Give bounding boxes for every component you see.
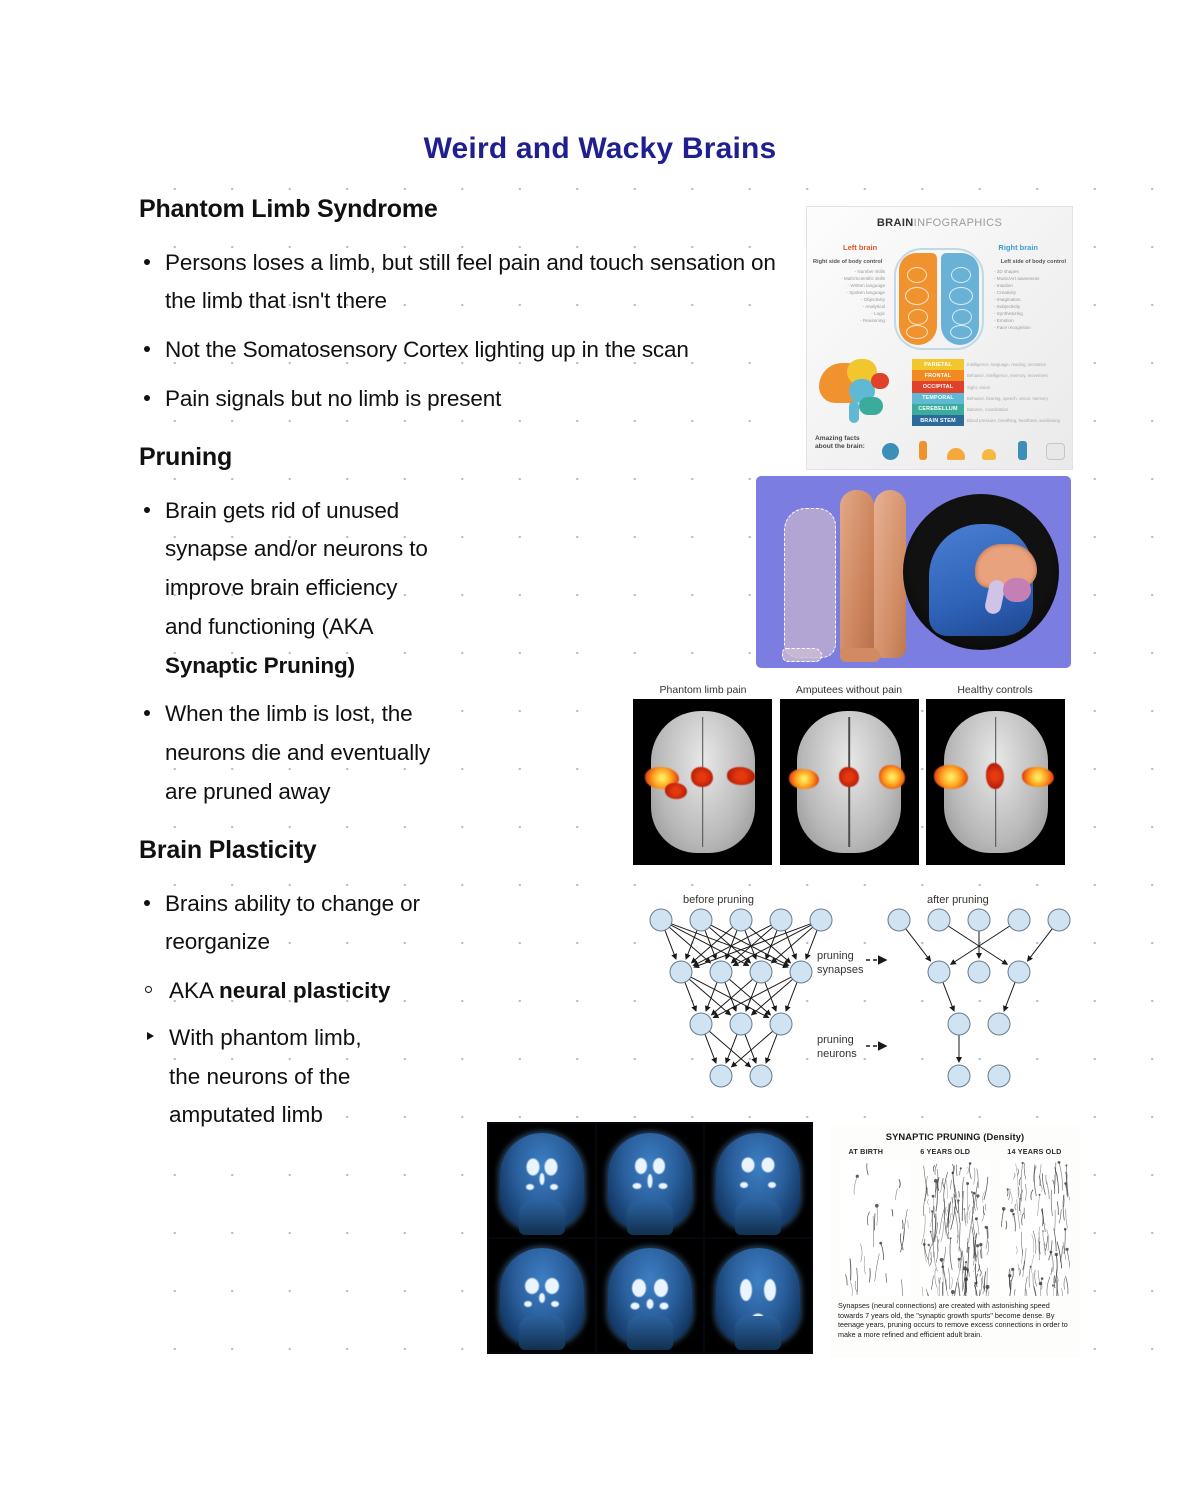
right-side-caption: Left side of body control bbox=[1001, 259, 1066, 265]
foot-left bbox=[840, 648, 880, 662]
density-stage-label: 6 YEARS OLD bbox=[920, 1147, 970, 1156]
brain-scan-image bbox=[797, 711, 901, 853]
region-legend-row: OCCIPITAL bbox=[912, 381, 964, 392]
region-legend-row: BRAIN STEM bbox=[912, 415, 964, 426]
facts-icon-row bbox=[877, 429, 1068, 467]
left-side-caption: Right side of body control bbox=[813, 259, 882, 265]
neuron-density-image bbox=[1000, 1160, 1070, 1296]
fmri-panel-captions: Phantom limb pain Amputees without pain … bbox=[633, 684, 1065, 696]
list-item: Persons loses a limb, but still feel pai… bbox=[139, 244, 799, 321]
right-brain-traits: - 3D shapes- Music/Art awareness- Intuit… bbox=[994, 269, 1066, 332]
mri-slice bbox=[597, 1239, 703, 1352]
list-item: Pain signals but no limb is present bbox=[139, 380, 799, 419]
side-view-brain-illustration bbox=[819, 357, 897, 427]
synaptic-pruning-density-chart: SYNAPTIC PRUNING (Density) AT BIRTH 6 YE… bbox=[830, 1126, 1080, 1358]
list-item-bold-text: neural plasticity bbox=[219, 978, 390, 1003]
region-legend-row: TEMPORAL bbox=[912, 393, 964, 404]
brain-scan-image bbox=[944, 711, 1048, 853]
ghost-foot bbox=[782, 648, 822, 662]
list-item: Brain gets rid of unused synapse and/or … bbox=[139, 492, 439, 685]
neuron-density-image bbox=[840, 1160, 910, 1296]
fact-icon-fan bbox=[943, 448, 969, 467]
infographic-title-light: INFOGRAPHICS bbox=[914, 217, 1003, 229]
section-heading-pruning: Pruning bbox=[139, 444, 799, 472]
cerebellum bbox=[1003, 578, 1031, 602]
density-caption: Synapses (neural connections) are create… bbox=[830, 1296, 1080, 1339]
top-view-brain-illustration bbox=[899, 253, 979, 345]
head-silhouette bbox=[929, 524, 1033, 636]
fmri-caption: Phantom limb pain bbox=[633, 684, 773, 696]
density-neuron-images bbox=[830, 1160, 1080, 1296]
infographic-title: BRAININFOGRAPHICS bbox=[807, 217, 1072, 229]
neuron-density-image bbox=[920, 1160, 990, 1296]
leg-right bbox=[874, 490, 906, 658]
bullet-list-brain-plasticity: Brains ability to change or reorganize bbox=[139, 885, 439, 962]
fmri-panel bbox=[780, 699, 919, 865]
fmri-caption: Amputees without pain bbox=[779, 684, 919, 696]
fmri-panel bbox=[633, 699, 772, 865]
list-item-bold-text: Synaptic Pruning) bbox=[165, 653, 355, 678]
fact-icon-scale bbox=[1042, 443, 1068, 467]
page-title: Weird and Wacky Brains bbox=[0, 132, 1200, 166]
region-legend-row: CEREBELLUM bbox=[912, 404, 964, 415]
density-stage-label: AT BIRTH bbox=[849, 1147, 884, 1156]
bullet-list-pruning: Brain gets rid of unused synapse and/or … bbox=[139, 492, 439, 812]
head-circle-inset bbox=[903, 494, 1059, 650]
density-title: SYNAPTIC PRUNING (Density) bbox=[830, 1126, 1080, 1142]
list-item: With phantom limb, the neurons of the am… bbox=[139, 1019, 364, 1135]
network-graph-svg bbox=[641, 894, 1071, 1122]
synaptic-pruning-network-diagram: before pruning after pruning pruningsyna… bbox=[641, 894, 1071, 1122]
list-item: Not the Somatosensory Cortex lighting up… bbox=[139, 331, 799, 370]
region-legend-row: FRONTAL bbox=[912, 370, 964, 381]
brain-region-legend: PARIETALFRONTALOCCIPITALTEMPORALCEREBELL… bbox=[912, 359, 964, 426]
mri-slice bbox=[705, 1124, 811, 1237]
fmri-panel-row bbox=[633, 699, 1065, 865]
fact-icon-figure bbox=[1009, 441, 1035, 467]
brain-scan-image bbox=[651, 711, 755, 853]
right-hemisphere bbox=[941, 253, 979, 345]
right-brain-label: Right brain bbox=[998, 243, 1038, 252]
mri-coronal-slice-grid bbox=[487, 1122, 813, 1354]
bullet-list-phantom-limb: Persons loses a limb, but still feel pai… bbox=[139, 244, 799, 419]
phantom-limb-illustration bbox=[756, 476, 1071, 668]
mri-slice bbox=[489, 1239, 595, 1352]
amazing-facts-label: Amazing factsabout the brain: bbox=[815, 435, 865, 451]
mri-slice bbox=[489, 1124, 595, 1237]
list-item: When the limb is lost, the neurons die a… bbox=[139, 695, 439, 811]
fact-icon-person bbox=[910, 441, 936, 467]
fmri-brain-activation-triptych: Phantom limb pain Amputees without pain … bbox=[633, 684, 1065, 870]
fmri-caption: Healthy controls bbox=[925, 684, 1065, 696]
document-page: Weird and Wacky Brains Phantom Limb Synd… bbox=[0, 0, 1200, 1504]
leg-left bbox=[840, 490, 874, 658]
density-stage-labels: AT BIRTH 6 YEARS OLD 14 YEARS OLD bbox=[830, 1147, 1080, 1156]
ghost-limb-outline bbox=[784, 508, 836, 658]
fact-icon-speed bbox=[877, 443, 903, 467]
section-heading-phantom-limb: Phantom Limb Syndrome bbox=[139, 196, 799, 224]
fmri-panel bbox=[926, 699, 1065, 865]
list-item-text: Brain gets rid of unused synapse and/or … bbox=[165, 498, 428, 639]
left-hemisphere bbox=[899, 253, 937, 345]
fact-icon-bulb bbox=[976, 449, 1002, 467]
left-brain-label: Left brain bbox=[843, 243, 877, 252]
list-item: Brains ability to change or reorganize bbox=[139, 885, 439, 962]
mri-slice bbox=[705, 1239, 811, 1352]
left-brain-traits: - Number skills- Math/Scientific skills-… bbox=[813, 269, 885, 325]
region-legend-row: PARIETAL bbox=[912, 359, 964, 370]
mri-grid bbox=[487, 1122, 813, 1354]
brain-infographics-poster: BRAININFOGRAPHICS Left brain Right brain… bbox=[806, 206, 1073, 470]
infographic-title-bold: BRAIN bbox=[877, 217, 914, 229]
brain-region-descriptions: Intelligence, language, reading, sensati… bbox=[967, 359, 1067, 427]
density-stage-label: 14 YEARS OLD bbox=[1007, 1147, 1061, 1156]
mri-slice bbox=[597, 1124, 703, 1237]
list-item-text: AKA bbox=[169, 978, 219, 1003]
